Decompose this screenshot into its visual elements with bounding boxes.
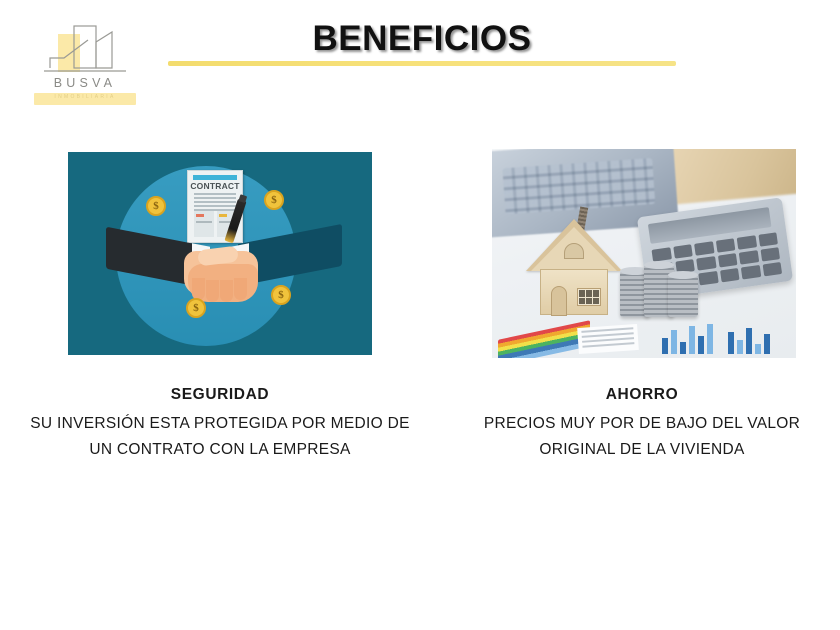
benefit-body-ahorro: PRECIOS MUY POR DE BAJO DEL VALOR ORIGIN… <box>452 411 832 463</box>
bar-chart-group <box>728 328 770 354</box>
coin-icon: $ <box>146 196 166 216</box>
benefit-caption-ahorro: AHORRO PRECIOS MUY POR DE BAJO DEL VALOR… <box>452 386 832 463</box>
benefit-title-seguridad: SEGURIDAD <box>30 386 410 404</box>
colored-chart-bands <box>498 320 590 358</box>
logo-wordmark: BUSVA <box>26 76 144 90</box>
wooden-board-backdrop <box>664 149 796 205</box>
coin-stacks <box>620 257 698 319</box>
benefit-image-ahorro <box>492 149 796 358</box>
document-header-bar <box>193 175 237 180</box>
house-facade <box>540 269 608 315</box>
title-underline-rule <box>168 61 676 66</box>
house-door <box>551 286 567 316</box>
brand-logo[interactable]: BUSVA INMOBILIARIA <box>26 24 144 108</box>
coin-icon: $ <box>186 298 206 318</box>
bar-chart-group <box>662 324 713 354</box>
coin-stack <box>668 275 698 317</box>
benefit-card-ahorro <box>492 149 796 358</box>
page-title: BENEFICIOS <box>168 18 676 60</box>
document-text-lines <box>194 193 236 213</box>
building-outline-icon <box>40 24 132 76</box>
coin-icon: $ <box>264 190 284 210</box>
handshake-contract-illustration: CONTRACT <box>68 152 372 355</box>
benefit-card-seguridad: CONTRACT <box>68 149 372 358</box>
benefit-body-seguridad: SU INVERSIÓN ESTA PROTEGIDA POR MEDIO DE… <box>30 411 410 463</box>
wooden-model-house <box>526 207 622 317</box>
benefit-title-ahorro: AHORRO <box>452 386 832 404</box>
benefit-image-seguridad: CONTRACT <box>68 149 372 358</box>
document-sheet <box>577 324 639 354</box>
slide-header: BUSVA INMOBILIARIA BENEFICIOS <box>0 0 840 130</box>
house-window <box>577 288 601 306</box>
coin-icon: $ <box>271 285 291 305</box>
logo-tagline: INMOBILIARIA <box>26 94 144 100</box>
document-title-label: CONTRACT <box>188 181 242 191</box>
house-attic-window <box>564 243 584 259</box>
financial-chart-papers <box>492 314 796 358</box>
benefit-caption-seguridad: SEGURIDAD SU INVERSIÓN ESTA PROTEGIDA PO… <box>30 386 410 463</box>
model-house-finance-photo <box>492 149 796 358</box>
